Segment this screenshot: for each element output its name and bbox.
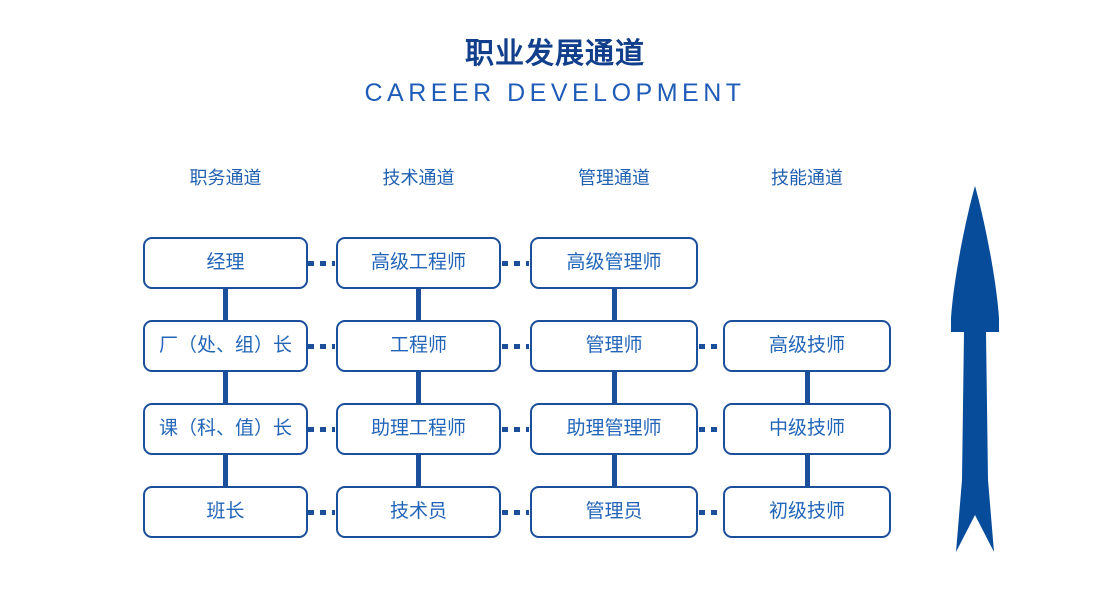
career-path-diagram: 职务通道 技术通道 管理通道 技能通道 经理 厂（处、组）长 课（科、值）长 班… <box>0 0 1110 596</box>
v-connector-col1-r1r2 <box>416 369 421 403</box>
h-connector-r0-c1c2 <box>502 261 529 266</box>
node-box-col0-row2[interactable]: 课（科、值）长 <box>143 403 308 455</box>
node-label-col0-row3: 班长 <box>206 500 244 524</box>
node-label-col2-row1: 管理师 <box>585 334 642 358</box>
v-connector-col0-r0r1 <box>223 285 228 320</box>
v-connector-col3-r2r3 <box>805 452 810 487</box>
h-connector-r3-c2c3 <box>699 510 722 515</box>
h-connector-r2-c2c3 <box>699 427 722 432</box>
node-box-col0-row3[interactable]: 班长 <box>143 486 308 538</box>
h-connector-r2-c0c1 <box>308 427 335 432</box>
column-header-2: 管理通道 <box>530 166 698 190</box>
node-box-col2-row1[interactable]: 管理师 <box>530 320 698 372</box>
v-connector-col1-r2r3 <box>416 452 421 487</box>
node-label-col0-row1: 厂（处、组）长 <box>159 334 292 358</box>
h-connector-r1-c2c3 <box>699 344 722 349</box>
h-connector-r2-c1c2 <box>502 427 529 432</box>
node-box-col3-row3[interactable]: 初级技师 <box>723 486 891 538</box>
v-connector-col1-r0r1 <box>416 285 421 320</box>
node-box-col1-row0[interactable]: 高级工程师 <box>336 237 501 289</box>
node-label-col0-row2: 课（科、值）长 <box>159 417 292 441</box>
node-label-col3-row2: 中级技师 <box>769 417 845 441</box>
v-connector-col0-r1r2 <box>223 369 228 403</box>
h-connector-r1-c0c1 <box>308 344 335 349</box>
h-connector-r3-c0c1 <box>308 510 335 515</box>
node-box-col2-row0[interactable]: 高级管理师 <box>530 237 698 289</box>
node-label-col1-row3: 技术员 <box>390 500 447 524</box>
node-label-col2-row2: 助理管理师 <box>566 417 661 441</box>
v-connector-col2-r0r1 <box>612 285 617 320</box>
h-connector-r1-c1c2 <box>502 344 529 349</box>
node-label-col2-row3: 管理员 <box>585 500 642 524</box>
node-box-col3-row2[interactable]: 中级技师 <box>723 403 891 455</box>
column-header-3: 技能通道 <box>723 166 891 190</box>
node-label-col1-row2: 助理工程师 <box>371 417 466 441</box>
h-connector-r3-c1c2 <box>502 510 529 515</box>
node-label-col2-row0: 高级管理师 <box>566 251 661 275</box>
node-label-col3-row1: 高级技师 <box>769 334 845 358</box>
v-connector-col3-r1r2 <box>805 369 810 403</box>
node-box-col0-row1[interactable]: 厂（处、组）长 <box>143 320 308 372</box>
node-box-col1-row2[interactable]: 助理工程师 <box>336 403 501 455</box>
node-box-col1-row3[interactable]: 技术员 <box>336 486 501 538</box>
upward-growth-arrow-icon <box>920 180 1030 555</box>
node-label-col1-row0: 高级工程师 <box>371 251 466 275</box>
node-box-col2-row2[interactable]: 助理管理师 <box>530 403 698 455</box>
v-connector-col0-r2r3 <box>223 452 228 487</box>
node-box-col3-row1[interactable]: 高级技师 <box>723 320 891 372</box>
node-box-col2-row3[interactable]: 管理员 <box>530 486 698 538</box>
node-label-col1-row1: 工程师 <box>390 334 447 358</box>
node-label-col0-row0: 经理 <box>206 251 244 275</box>
column-header-1: 技术通道 <box>336 166 501 190</box>
column-header-0: 职务通道 <box>143 166 308 190</box>
h-connector-r0-c0c1 <box>308 261 335 266</box>
node-box-col1-row1[interactable]: 工程师 <box>336 320 501 372</box>
v-connector-col2-r1r2 <box>612 369 617 403</box>
v-connector-col2-r2r3 <box>612 452 617 487</box>
node-label-col3-row3: 初级技师 <box>769 500 845 524</box>
node-box-col0-row0[interactable]: 经理 <box>143 237 308 289</box>
